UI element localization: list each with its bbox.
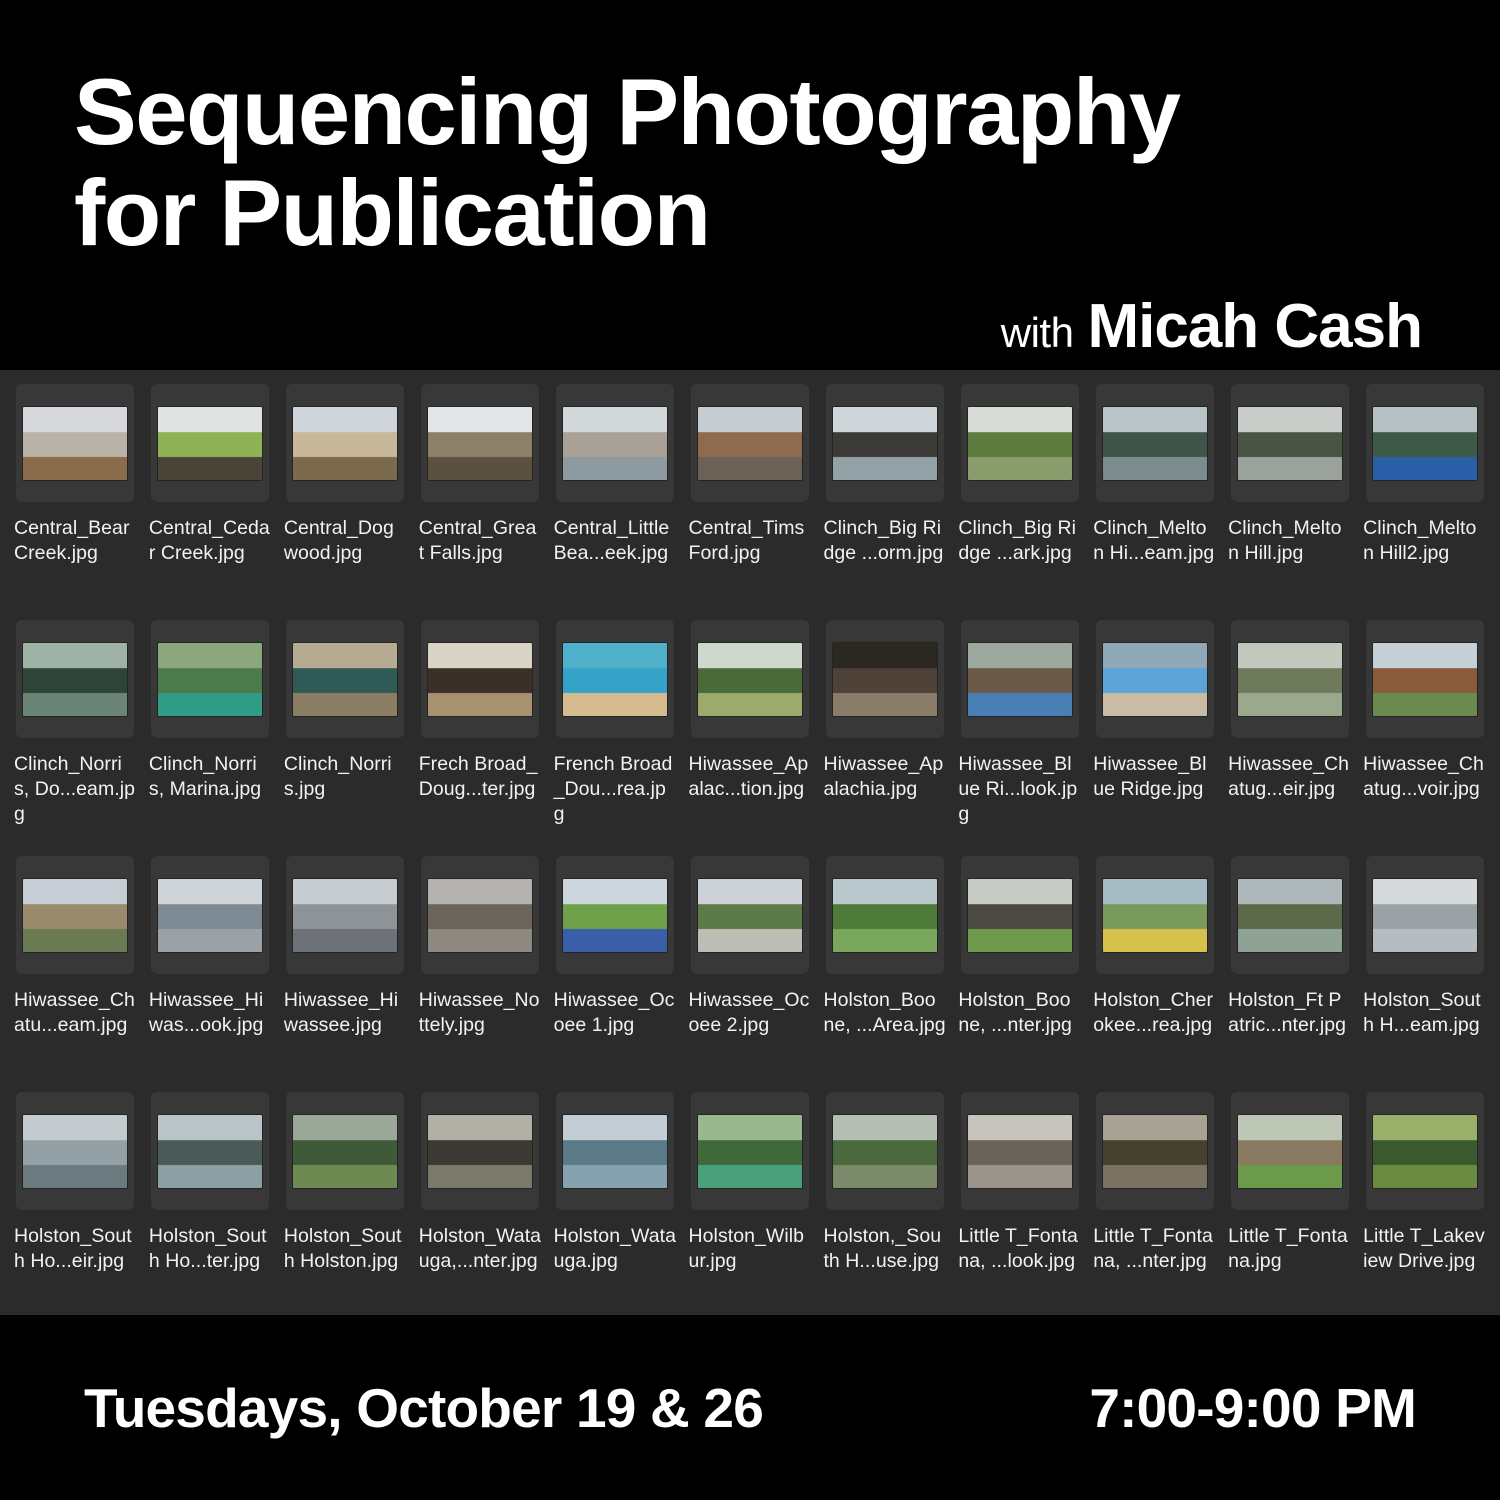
file-item[interactable]: Clinch_Melton Hi...eam.jpg [1089,384,1220,620]
file-item[interactable]: Central_Dogwood.jpg [280,384,411,620]
photo-thumbnail [698,407,802,480]
file-item[interactable]: Hiwassee_Apalachia.jpg [819,620,950,856]
file-name-label: Holston,_South H...use.jpg [819,1224,950,1274]
file-item[interactable]: Hiwassee_Hiwas...ook.jpg [145,856,276,1092]
file-item[interactable]: Central_Great Falls.jpg [415,384,546,620]
file-grid: Central_Bear Creek.jpgCentral_Cedar Cree… [10,384,1490,1315]
file-thumbnail-tile[interactable] [826,856,944,974]
file-item[interactable]: Hiwassee_Chatug...voir.jpg [1359,620,1490,856]
file-item[interactable]: Hiwassee_Hiwassee.jpg [280,856,411,1092]
poster-root: Sequencing Photography for Publication w… [0,0,1500,1500]
file-name-label: Hiwassee_Chatu...eam.jpg [10,988,141,1038]
file-name-label: Central_Great Falls.jpg [415,516,546,566]
file-item[interactable]: Clinch_Big Ridge ...ark.jpg [954,384,1085,620]
photo-thumbnail [563,407,667,480]
file-name-label: Clinch_Big Ridge ...orm.jpg [819,516,950,566]
file-thumbnail-tile[interactable] [286,1092,404,1210]
photo-thumbnail [428,407,532,480]
file-item[interactable]: Frech Broad_Doug...ter.jpg [415,620,546,856]
file-thumbnail-tile[interactable] [961,1092,1079,1210]
photo-thumbnail [968,879,1072,952]
file-name-label: Central_Tims Ford.jpg [685,516,816,566]
photo-thumbnail [968,1115,1072,1188]
file-item[interactable]: Clinch_Melton Hill.jpg [1224,384,1355,620]
file-item[interactable]: Holston,_South H...use.jpg [819,1092,950,1315]
file-thumbnail-tile[interactable] [1366,856,1484,974]
file-item[interactable]: Hiwassee_Chatu...eam.jpg [10,856,141,1092]
photo-thumbnail [23,879,127,952]
file-thumbnail-tile[interactable] [151,384,269,502]
file-thumbnail-tile[interactable] [556,1092,674,1210]
file-name-label: Hiwassee_Blue Ridge.jpg [1089,752,1220,802]
file-item[interactable]: Little T_Fontana, ...look.jpg [954,1092,1085,1315]
event-date: Tuesdays, October 19 & 26 [84,1376,763,1440]
file-thumbnail-tile[interactable] [556,384,674,502]
file-name-label: Holston_Watauga.jpg [550,1224,681,1274]
file-item[interactable]: Holston_Ft Patric...nter.jpg [1224,856,1355,1092]
photo-thumbnail [1373,1115,1477,1188]
file-thumbnail-tile[interactable] [826,384,944,502]
file-item[interactable]: Holston_Boone, ...nter.jpg [954,856,1085,1092]
photo-thumbnail [833,407,937,480]
file-name-label: Hiwassee_Ocoee 1.jpg [550,988,681,1038]
file-thumbnail-tile[interactable] [286,620,404,738]
file-thumbnail-tile[interactable] [286,384,404,502]
file-item[interactable]: Hiwassee_Chatug...eir.jpg [1224,620,1355,856]
file-name-label: Little T_Fontana, ...nter.jpg [1089,1224,1220,1274]
file-name-label: Holston_South Ho...ter.jpg [145,1224,276,1274]
file-thumbnail-tile[interactable] [961,856,1079,974]
file-item[interactable]: Holston_Watauga.jpg [550,1092,681,1315]
file-item[interactable]: Holston_Watauga,...nter.jpg [415,1092,546,1315]
file-item[interactable]: Holston_South Ho...eir.jpg [10,1092,141,1315]
photo-thumbnail [1238,879,1342,952]
file-item[interactable]: Central_Bear Creek.jpg [10,384,141,620]
photo-thumbnail [23,1115,127,1188]
presenter-name: Micah Cash [1087,291,1422,362]
file-item[interactable]: Central_Little Bea...eek.jpg [550,384,681,620]
photo-thumbnail [833,879,937,952]
file-item[interactable]: French Broad _Dou...rea.jpg [550,620,681,856]
photo-thumbnail [1103,643,1207,716]
file-item[interactable]: Holston_South Ho...ter.jpg [145,1092,276,1315]
file-thumbnail-tile[interactable] [1096,856,1214,974]
file-name-label: Hiwassee_Apalachia.jpg [819,752,950,802]
photo-thumbnail [968,643,1072,716]
file-item[interactable]: Holston_South Holston.jpg [280,1092,411,1315]
file-item[interactable]: Little T_Fontana, ...nter.jpg [1089,1092,1220,1315]
file-name-label: Central_Dogwood.jpg [280,516,411,566]
event-time: 7:00-9:00 PM [1089,1376,1416,1440]
file-item[interactable]: Hiwassee_Apalac...tion.jpg [685,620,816,856]
photo-thumbnail [158,407,262,480]
file-thumbnail-tile[interactable] [691,620,809,738]
file-thumbnail-tile[interactable] [1366,1092,1484,1210]
photo-thumbnail [428,879,532,952]
photo-thumbnail [23,407,127,480]
file-item[interactable]: Central_Cedar Creek.jpg [145,384,276,620]
file-item[interactable]: Holston_Cherokee...rea.jpg [1089,856,1220,1092]
file-item[interactable]: Hiwassee_Ocoee 1.jpg [550,856,681,1092]
file-name-label: Hiwassee_Ocoee 2.jpg [685,988,816,1038]
file-item[interactable]: Little T_Lakeview Drive.jpg [1359,1092,1490,1315]
file-name-label: Frech Broad_Doug...ter.jpg [415,752,546,802]
photo-thumbnail [1238,407,1342,480]
file-name-label: Hiwassee_Chatug...voir.jpg [1359,752,1490,802]
photo-thumbnail [1103,879,1207,952]
file-thumbnail-tile[interactable] [1096,1092,1214,1210]
photo-thumbnail [293,879,397,952]
file-name-label: Holston_Boone, ...Area.jpg [819,988,950,1038]
file-name-label: Hiwassee_Hiwas...ook.jpg [145,988,276,1038]
file-item[interactable]: Clinch_Big Ridge ...orm.jpg [819,384,950,620]
file-name-label: Little T_Fontana, ...look.jpg [954,1224,1085,1274]
file-thumbnail-tile[interactable] [691,856,809,974]
file-item[interactable]: Holston_Wilbur.jpg [685,1092,816,1315]
file-thumbnail-tile[interactable] [16,856,134,974]
file-name-label: Clinch_Norris.jpg [280,752,411,802]
file-name-label: Holston_Wilbur.jpg [685,1224,816,1274]
file-thumbnail-tile[interactable] [826,1092,944,1210]
file-item[interactable]: Holston_South H...eam.jpg [1359,856,1490,1092]
file-item[interactable]: Hiwassee_Blue Ridge.jpg [1089,620,1220,856]
file-name-label: Holston_Cherokee...rea.jpg [1089,988,1220,1038]
file-name-label: Holston_South H...eam.jpg [1359,988,1490,1038]
file-thumbnail-tile[interactable] [151,620,269,738]
photo-thumbnail [833,1115,937,1188]
photo-thumbnail [158,879,262,952]
photo-thumbnail [428,643,532,716]
photo-thumbnail [698,1115,802,1188]
file-thumbnail-tile[interactable] [826,620,944,738]
photo-thumbnail [698,879,802,952]
file-name-label: Central_Cedar Creek.jpg [145,516,276,566]
file-thumbnail-tile[interactable] [691,384,809,502]
presenter-line: with Micah Cash [1001,291,1422,362]
file-item[interactable]: Central_Tims Ford.jpg [685,384,816,620]
file-name-label: Holston_South Ho...eir.jpg [10,1224,141,1274]
photo-thumbnail [1238,643,1342,716]
file-thumbnail-tile[interactable] [16,384,134,502]
photo-thumbnail [1238,1115,1342,1188]
presenter-with-label: with [1001,309,1074,357]
file-item[interactable]: Hiwassee_Blue Ri...look.jpg [954,620,1085,856]
file-name-label: French Broad _Dou...rea.jpg [550,752,681,827]
photo-thumbnail [1373,643,1477,716]
file-name-label: Hiwassee_Chatug...eir.jpg [1224,752,1355,802]
file-name-label: Clinch_Melton Hi...eam.jpg [1089,516,1220,566]
photo-thumbnail [158,643,262,716]
photo-thumbnail [1373,879,1477,952]
file-thumbnail-tile[interactable] [556,620,674,738]
file-thumbnail-tile[interactable] [961,384,1079,502]
file-thumbnail-tile[interactable] [961,620,1079,738]
photo-thumbnail [293,643,397,716]
photo-thumbnail [563,643,667,716]
photo-thumbnail [833,643,937,716]
file-name-label: Clinch_Big Ridge ...ark.jpg [954,516,1085,566]
file-thumbnail-tile[interactable] [421,1092,539,1210]
photo-thumbnail [1373,407,1477,480]
page-title: Sequencing Photography for Publication [74,62,1180,263]
file-thumbnail-tile[interactable] [1231,856,1349,974]
file-item[interactable]: Hiwassee_Ocoee 2.jpg [685,856,816,1092]
file-thumbnail-tile[interactable] [151,1092,269,1210]
file-name-label: Hiwassee_Apalac...tion.jpg [685,752,816,802]
file-item[interactable]: Holston_Boone, ...Area.jpg [819,856,950,1092]
file-thumbnail-tile[interactable] [421,620,539,738]
file-thumbnail-tile[interactable] [1231,1092,1349,1210]
file-name-label: Central_Bear Creek.jpg [10,516,141,566]
file-thumbnail-tile[interactable] [1096,620,1214,738]
file-thumbnail-tile[interactable] [421,856,539,974]
file-thumbnail-tile[interactable] [286,856,404,974]
poster-footer: Tuesdays, October 19 & 26 7:00-9:00 PM [0,1315,1500,1500]
file-thumbnail-tile[interactable] [151,856,269,974]
file-name-label: Holston_South Holston.jpg [280,1224,411,1274]
file-name-label: Hiwassee_Hiwassee.jpg [280,988,411,1038]
file-name-label: Clinch_Norris, Do...eam.jpg [10,752,141,827]
photo-thumbnail [293,407,397,480]
file-thumbnail-tile[interactable] [1366,384,1484,502]
file-name-label: Central_Little Bea...eek.jpg [550,516,681,566]
file-name-label: Little T_Fontana.jpg [1224,1224,1355,1274]
photo-thumbnail [293,1115,397,1188]
file-item[interactable]: Little T_Fontana.jpg [1224,1092,1355,1315]
file-item[interactable]: Hiwassee_Nottely.jpg [415,856,546,1092]
file-thumbnail-tile[interactable] [691,1092,809,1210]
file-name-label: Hiwassee_Nottely.jpg [415,988,546,1038]
file-name-label: Clinch_Melton Hill2.jpg [1359,516,1490,566]
photo-thumbnail [698,643,802,716]
file-thumbnail-tile[interactable] [1231,620,1349,738]
file-item[interactable]: Clinch_Melton Hill2.jpg [1359,384,1490,620]
photo-thumbnail [1103,407,1207,480]
file-thumbnail-tile[interactable] [16,620,134,738]
photo-thumbnail [563,879,667,952]
photo-thumbnail [968,407,1072,480]
photo-thumbnail [23,643,127,716]
file-browser-panel[interactable]: Central_Bear Creek.jpgCentral_Cedar Cree… [0,370,1500,1315]
file-thumbnail-tile[interactable] [1366,620,1484,738]
file-item[interactable]: Clinch_Norris, Do...eam.jpg [10,620,141,856]
file-thumbnail-tile[interactable] [16,1092,134,1210]
file-name-label: Holston_Boone, ...nter.jpg [954,988,1085,1038]
file-name-label: Holston_Watauga,...nter.jpg [415,1224,546,1274]
file-name-label: Holston_Ft Patric...nter.jpg [1224,988,1355,1038]
file-item[interactable]: Clinch_Norris, Marina.jpg [145,620,276,856]
file-name-label: Little T_Lakeview Drive.jpg [1359,1224,1490,1274]
poster-header: Sequencing Photography for Publication w… [0,0,1500,370]
file-thumbnail-tile[interactable] [556,856,674,974]
file-thumbnail-tile[interactable] [421,384,539,502]
file-thumbnail-tile[interactable] [1231,384,1349,502]
photo-thumbnail [1103,1115,1207,1188]
photo-thumbnail [428,1115,532,1188]
file-name-label: Clinch_Norris, Marina.jpg [145,752,276,802]
file-item[interactable]: Clinch_Norris.jpg [280,620,411,856]
photo-thumbnail [563,1115,667,1188]
file-name-label: Hiwassee_Blue Ri...look.jpg [954,752,1085,827]
file-thumbnail-tile[interactable] [1096,384,1214,502]
file-name-label: Clinch_Melton Hill.jpg [1224,516,1355,566]
photo-thumbnail [158,1115,262,1188]
